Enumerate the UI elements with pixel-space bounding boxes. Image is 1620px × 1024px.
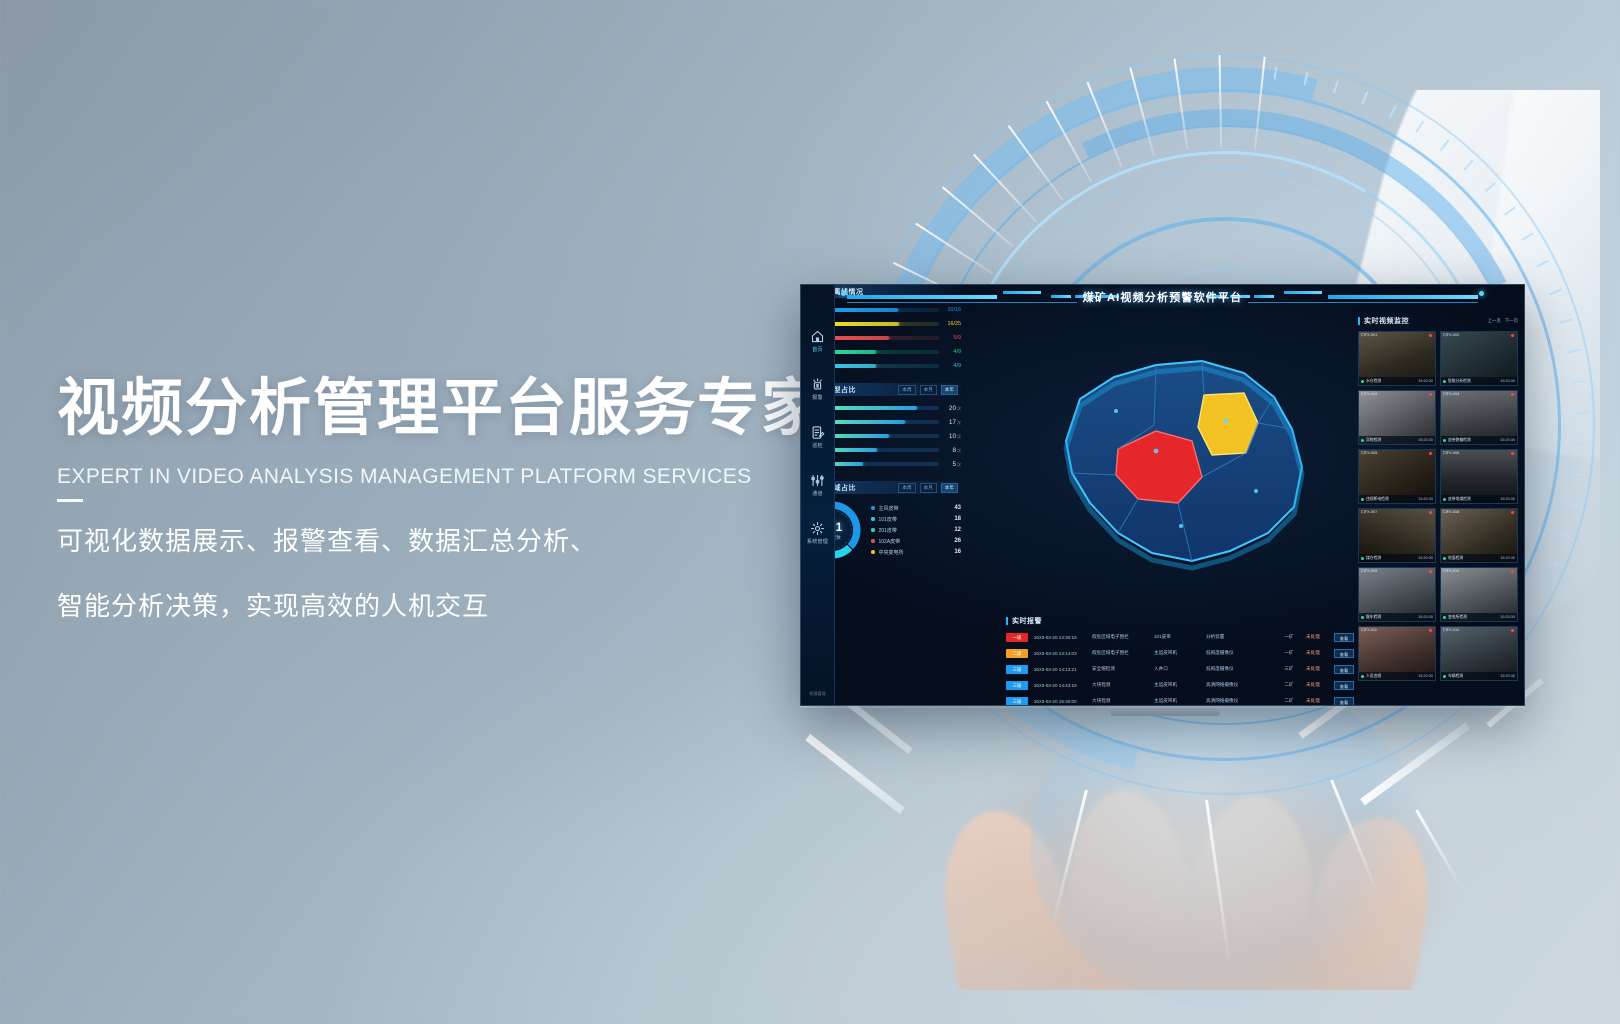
camera-name: 人员违规 — [1366, 674, 1418, 679]
alarm-mine: 一矿 — [1272, 634, 1306, 640]
alarm-time: 2023-03-20 14:43:18 — [1034, 683, 1092, 688]
camera-id: 口FX-012 — [1443, 628, 1459, 633]
camera-timestamp: 15:20:30 — [1500, 556, 1515, 560]
camera-timestamp: 15:20:30 — [1418, 438, 1433, 442]
sidebar-label: 巡检 — [812, 442, 823, 449]
time-range-tabs[interactable]: 本周本月本年 — [898, 483, 961, 493]
online-status-dot — [1443, 675, 1446, 678]
video-tile[interactable]: 口FX-011人员违规15:20:30 — [1358, 626, 1436, 681]
table-row: 三级2023-03-20 14:43:18大块检测主运皮带机高清网络摄像仪二矿未… — [1006, 677, 1401, 693]
view-button[interactable]: 查看 — [1334, 681, 1354, 690]
row-value: 5次 — [939, 461, 961, 468]
channel-icon — [810, 473, 825, 488]
dashboard-header: 煤矿AI视频分析预警软件平台 — [801, 285, 1524, 311]
alarm-place: 101皮带 — [1154, 634, 1206, 640]
tab-本月[interactable]: 本月 — [920, 483, 937, 493]
alarm-type: 假危区域电子围栏 — [1092, 634, 1154, 640]
camera-name: 皮带跑偏检测 — [1448, 438, 1500, 443]
alarm-mine: 二矿 — [1272, 698, 1306, 704]
table-row: 二级2023-03-20 13:14:03假危区域电子围栏主运皮带机低照度摄像仪… — [1006, 645, 1401, 661]
tab-本年[interactable]: 本年 — [941, 385, 958, 395]
alarm-place: 主运皮带机 — [1154, 682, 1206, 688]
legend-color-dot — [871, 506, 875, 510]
camera-id: 口FX-003 — [1361, 392, 1377, 397]
divider — [57, 499, 83, 502]
camera-name: 智能分析检测 — [1448, 379, 1500, 384]
description-line-2: 智能分析决策，实现高效的人机交互 — [57, 581, 837, 632]
legend-item: 中央变电所16 — [871, 547, 961, 558]
row-value: 4/9 — [939, 349, 961, 355]
progress-track — [827, 448, 939, 452]
camera-timestamp: 15:20:30 — [1418, 615, 1433, 619]
camera-id: 口FX-008 — [1443, 510, 1459, 515]
recording-indicator-icon — [1511, 511, 1514, 514]
camera-name: 异物检测 — [1366, 438, 1418, 443]
legend-value: 18 — [954, 516, 961, 522]
status-badge: 二级 — [1006, 649, 1028, 658]
alarm-device: 低照度摄像仪 — [1206, 666, 1272, 672]
recording-indicator-icon — [1511, 452, 1514, 455]
progress-track — [827, 420, 939, 424]
online-status-dot — [1361, 616, 1364, 619]
alarm-type: 安全帽检测 — [1092, 666, 1154, 672]
sidebar-label: 通道 — [812, 490, 823, 497]
alarm-mine: 一矿 — [1272, 650, 1306, 656]
dashboard-title: 煤矿AI视频分析预警软件平台 — [801, 289, 1524, 305]
legend-value: 26 — [954, 538, 961, 544]
donut-legend: 主风皮带43101皮带18201皮带12102A皮带26中央变电所16 — [871, 503, 961, 558]
alarm-status: 未处理 — [1306, 650, 1334, 656]
table-row: 三级2023-03-20 14:13:21安全帽检测入井口低照度摄像仪三矿未处理… — [1006, 661, 1401, 677]
sidebar-item-inspection[interactable]: 巡检 — [801, 413, 834, 461]
camera-timestamp: 15:20:30 — [1500, 615, 1515, 619]
video-pager[interactable]: 上一页 下一页 — [1488, 318, 1518, 324]
home-icon — [810, 329, 825, 344]
marketing-copy: 视频分析管理平台服务专家 EXPERT IN VIDEO ANALYSIS MA… — [57, 376, 837, 631]
video-tile[interactable]: 口FX-008地面检测15:20:30 — [1440, 508, 1518, 563]
status-badge: 一级 — [1006, 633, 1028, 642]
table-row: 一级2023-03-20 13:30:16假危区域电子围栏101皮带分析装置一矿… — [1006, 629, 1401, 645]
video-tile[interactable]: 口FX-012车辆检测15:20:30 — [1440, 626, 1518, 681]
view-button[interactable]: 查看 — [1334, 633, 1354, 642]
online-status-dot — [1361, 498, 1364, 501]
video-tile[interactable]: 口FX-009猴车检测15:20:30 — [1358, 567, 1436, 622]
dashboard-sidebar: 首页 报警 巡检 通道 系统管理 权限管理 — [801, 285, 835, 705]
progress-fill — [827, 322, 899, 326]
row-value: 8次 — [939, 447, 961, 454]
camera-id: 口FX-005 — [1361, 451, 1377, 456]
alarm-type: 大块检测 — [1092, 698, 1154, 704]
legend-label: 中央变电所 — [879, 549, 955, 556]
gear-icon — [810, 521, 825, 536]
progress-track — [827, 322, 939, 326]
legend-item: 102A皮带26 — [871, 536, 961, 547]
video-tile[interactable]: 口FX-007煤仓检测15:20:30 — [1358, 508, 1436, 563]
video-wall-panel: 实时视频监控 上一页 下一页 口FX-001水仓检测15:20:30口FX-00… — [1358, 315, 1518, 697]
alarm-device: 高清网络摄像仪 — [1206, 682, 1272, 688]
video-tile[interactable]: 口FX-004皮带跑偏检测15:20:30 — [1440, 390, 1518, 445]
sidebar-label: 报警 — [812, 394, 823, 401]
camera-timestamp: 15:20:30 — [1418, 674, 1433, 678]
progress-fill — [827, 336, 889, 340]
online-status-dot — [1443, 557, 1446, 560]
section-title: 实时报警 — [1012, 616, 1042, 626]
alarm-device: 高清网络摄像仪 — [1206, 698, 1272, 704]
status-badge: 三级 — [1006, 697, 1028, 706]
online-status-dot — [1443, 380, 1446, 383]
alarm-device: 低照度摄像仪 — [1206, 650, 1272, 656]
video-tile[interactable]: 口FX-001水仓检测15:20:30 — [1358, 331, 1436, 386]
alarm-type: 假危区域电子围栏 — [1092, 650, 1154, 656]
sidebar-item-system-management[interactable]: 系统管理 — [801, 509, 834, 557]
camera-name: 变电所检测 — [1448, 615, 1500, 620]
legend-item: 201皮带12 — [871, 525, 961, 536]
camera-name: 车辆检测 — [1448, 674, 1500, 679]
sidebar-footer-label: 权限管理 — [801, 691, 834, 697]
sidebar-item-channel[interactable]: 通道 — [801, 461, 834, 509]
sidebar-label: 系统管理 — [807, 538, 828, 545]
legend-label: 102A皮带 — [879, 538, 955, 545]
camera-name: 煤仓检测 — [1366, 556, 1418, 561]
camera-timestamp: 15:20:30 — [1500, 438, 1515, 442]
camera-id: 口FX-009 — [1361, 569, 1377, 574]
alarm-mine: 三矿 — [1272, 666, 1306, 672]
legend-item: 101皮带18 — [871, 514, 961, 525]
row-value: 10次 — [939, 433, 961, 440]
dashboard-screenshot: 煤矿AI视频分析预警软件平台 首页 报警 巡检 通道 — [800, 284, 1525, 706]
description-line-1: 可视化数据展示、报警查看、数据汇总分析、 — [57, 516, 837, 567]
sidebar-item-home[interactable]: 首页 — [801, 317, 834, 365]
alarm-place: 主运皮带机 — [1154, 650, 1206, 656]
row-value: 17次 — [939, 419, 961, 426]
progress-track — [827, 364, 939, 368]
alarm-time: 2023-03-20 13:14:03 — [1034, 651, 1092, 656]
view-button[interactable]: 查看 — [1334, 649, 1354, 658]
camera-name: 猴车检测 — [1366, 615, 1418, 620]
subtitle-english: EXPERT IN VIDEO ANALYSIS MANAGEMENT PLAT… — [57, 465, 837, 489]
alarm-status: 未处理 — [1306, 698, 1334, 704]
video-tile[interactable]: 口FX-006皮带堆煤检测15:20:30 — [1440, 449, 1518, 504]
alarm-device: 分析装置 — [1206, 634, 1272, 640]
video-tile[interactable]: 口FX-003异物检测15:20:30 — [1358, 390, 1436, 445]
progress-track — [827, 406, 939, 410]
prev-page-button[interactable]: 上一页 — [1488, 318, 1501, 324]
alarm-status: 未处理 — [1306, 634, 1334, 640]
alarm-time: 2023-03-20 13:30:16 — [1034, 635, 1092, 640]
tab-本周[interactable]: 本周 — [898, 483, 915, 493]
recording-indicator-icon — [1429, 570, 1432, 573]
progress-fill — [827, 434, 889, 438]
section-title: 实时视频监控 — [1364, 316, 1409, 326]
camera-id: 口FX-002 — [1443, 333, 1459, 338]
row-value: 16/25 — [939, 321, 961, 327]
progress-fill — [827, 420, 905, 424]
section-header: 实时视频监控 上一页 下一页 — [1358, 315, 1518, 327]
progress-track — [827, 434, 939, 438]
progress-fill — [827, 406, 917, 410]
sidebar-label: 首页 — [812, 346, 823, 353]
camera-id: 口FX-001 — [1361, 333, 1377, 338]
camera-name: 水仓检测 — [1366, 379, 1418, 384]
online-status-dot — [1361, 675, 1364, 678]
realtime-alarm-panel: 实时报警 一级2023-03-20 13:30:16假危区域电子围栏101皮带分… — [1006, 615, 1401, 699]
alarm-status: 未处理 — [1306, 666, 1334, 672]
camera-id: 口FX-007 — [1361, 510, 1377, 515]
legend-item: 主风皮带43 — [871, 503, 961, 514]
row-value: 20次 — [939, 405, 961, 412]
tab-本年[interactable]: 本年 — [941, 483, 958, 493]
section-header: 实时报警 — [1006, 615, 1401, 626]
inspection-icon — [810, 425, 825, 440]
legend-label: 101皮带 — [879, 516, 955, 523]
progress-track — [827, 336, 939, 340]
recording-indicator-icon — [1429, 511, 1432, 514]
row-value: 4/9 — [939, 363, 961, 369]
camera-name: 皮带堆煤检测 — [1448, 497, 1500, 502]
online-status-dot — [1361, 380, 1364, 383]
alarm-status: 未处理 — [1306, 682, 1334, 688]
legend-color-dot — [871, 550, 875, 554]
progress-track — [827, 462, 939, 466]
legend-color-dot — [871, 528, 875, 532]
online-status-dot — [1361, 557, 1364, 560]
online-status-dot — [1443, 498, 1446, 501]
camera-name: 违规断电检测 — [1366, 497, 1418, 502]
table-row: 三级2023-03-20 15:30:00大块检测主运皮带机高清网络摄像仪二矿未… — [1006, 693, 1401, 706]
camera-id: 口FX-006 — [1443, 451, 1459, 456]
alarm-type: 大块检测 — [1092, 682, 1154, 688]
legend-color-dot — [871, 539, 875, 543]
camera-id: 口FX-011 — [1361, 628, 1377, 633]
view-button[interactable]: 查看 — [1334, 665, 1354, 674]
alarm-icon — [810, 377, 825, 392]
alarm-time: 2023-03-20 15:30:00 — [1034, 699, 1092, 704]
legend-color-dot — [871, 517, 875, 521]
online-status-dot — [1443, 616, 1446, 619]
recording-indicator-icon — [1511, 629, 1514, 632]
camera-timestamp: 15:20:30 — [1418, 556, 1433, 560]
camera-timestamp: 15:20:30 — [1418, 379, 1433, 383]
legend-value: 12 — [954, 527, 961, 533]
sidebar-item-alarm[interactable]: 报警 — [801, 365, 834, 413]
tab-本周[interactable]: 本周 — [898, 385, 915, 395]
recording-indicator-icon — [1429, 334, 1432, 337]
video-tile[interactable]: 口FX-005违规断电检测15:20:30 — [1358, 449, 1436, 504]
legend-value: 43 — [954, 505, 961, 511]
legend-label: 201皮带 — [879, 527, 955, 534]
time-range-tabs[interactable]: 本周本月本年 — [898, 385, 961, 395]
camera-timestamp: 15:20:30 — [1418, 497, 1433, 501]
alarm-time: 2023-03-20 14:13:21 — [1034, 667, 1092, 672]
camera-id: 口FX-010 — [1443, 569, 1459, 574]
recording-indicator-icon — [1429, 629, 1432, 632]
alarm-place: 入井口 — [1154, 666, 1206, 672]
next-page-button[interactable]: 下一页 — [1505, 318, 1518, 324]
online-status-dot — [1361, 439, 1364, 442]
status-badge: 三级 — [1006, 681, 1028, 690]
monitor-stand — [1110, 706, 1220, 716]
recording-indicator-icon — [1429, 452, 1432, 455]
camera-timestamp: 15:20:30 — [1500, 497, 1515, 501]
view-button[interactable]: 查看 — [1334, 697, 1354, 706]
alarm-place: 主运皮带机 — [1154, 698, 1206, 704]
row-value: 5/9 — [939, 335, 961, 341]
camera-timestamp: 15:20:30 — [1500, 379, 1515, 383]
video-tile[interactable]: 口FX-010变电所检测15:20:30 — [1440, 567, 1518, 622]
recording-indicator-icon — [1511, 334, 1514, 337]
video-tile[interactable]: 口FX-002智能分析检测15:20:30 — [1440, 331, 1518, 386]
page-title: 视频分析管理平台服务专家 — [57, 376, 837, 443]
alarm-mine: 二矿 — [1272, 682, 1306, 688]
recording-indicator-icon — [1511, 570, 1514, 573]
region-map[interactable] — [1006, 321, 1351, 621]
tab-本月[interactable]: 本月 — [920, 385, 937, 395]
online-status-dot — [1443, 439, 1446, 442]
progress-track — [827, 350, 939, 354]
status-badge: 三级 — [1006, 665, 1028, 674]
camera-id: 口FX-004 — [1443, 392, 1459, 397]
camera-name: 地面检测 — [1448, 556, 1500, 561]
recording-indicator-icon — [1511, 393, 1514, 396]
legend-value: 16 — [954, 549, 961, 555]
camera-timestamp: 15:20:30 — [1500, 674, 1515, 678]
recording-indicator-icon — [1429, 393, 1432, 396]
legend-label: 主风皮带 — [879, 505, 955, 512]
